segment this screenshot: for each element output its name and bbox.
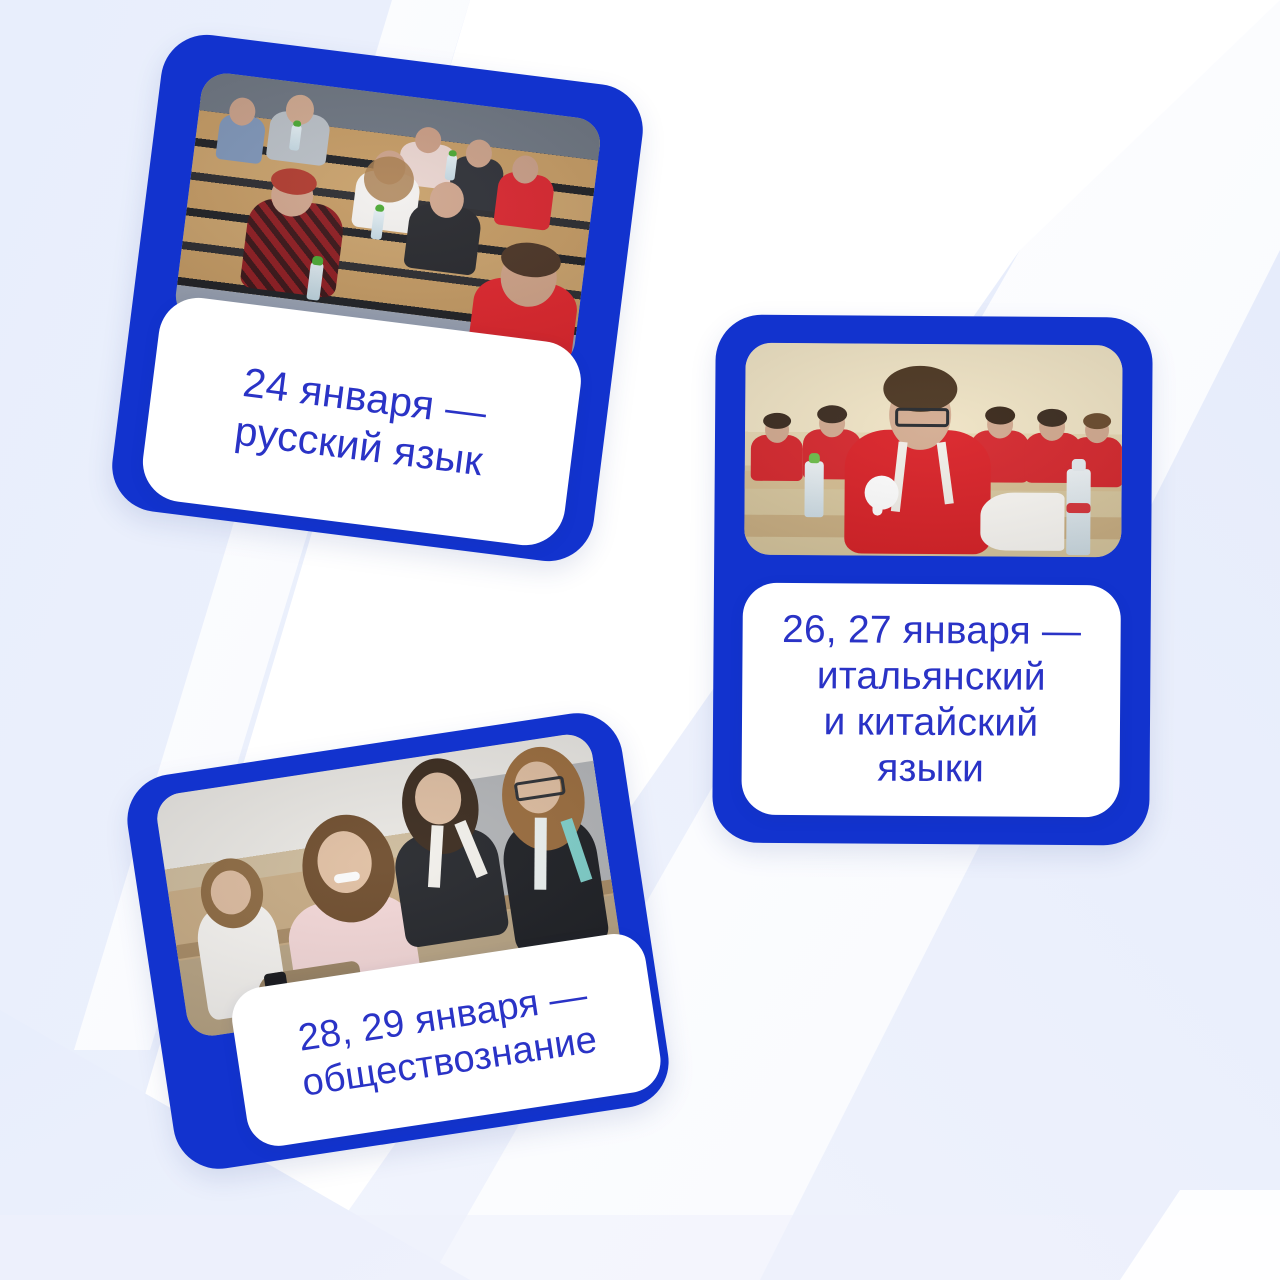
card-photo-exam-room [744, 343, 1122, 558]
schedule-card-social-studies[interactable]: 28, 29 января — обществознание [121, 707, 675, 1175]
label-line-3: и китайский [781, 699, 1080, 747]
schedule-card-russian[interactable]: 24 января — русский язык [107, 29, 648, 566]
label-line-4: языки [781, 745, 1080, 793]
poster-canvas: 24 января — русский язык [0, 0, 1280, 1280]
label-line-2: итальянский [782, 653, 1081, 701]
card-label-italian-chinese: 26, 27 января — итальянский и китайский … [741, 583, 1121, 818]
label-line-1: 26, 27 января — [782, 607, 1081, 655]
schedule-card-italian-chinese[interactable]: 26, 27 января — итальянский и китайский … [712, 314, 1153, 845]
